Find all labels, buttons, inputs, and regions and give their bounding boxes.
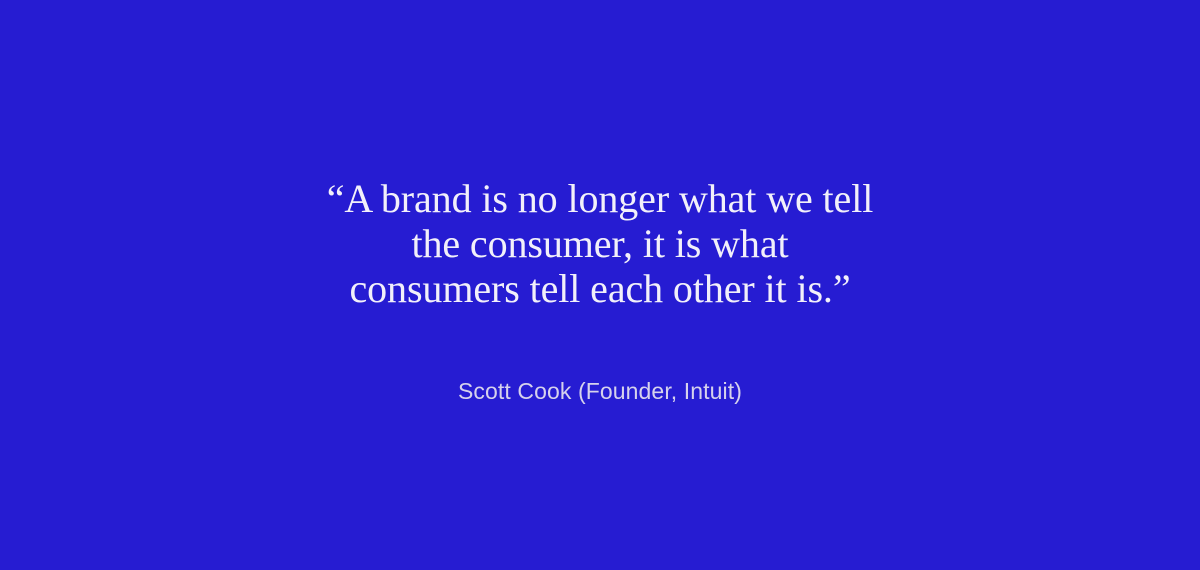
quote-line-1: “A brand is no longer what we tell [0, 176, 1200, 221]
attribution-label: Scott Cook (Founder, Intuit) [458, 377, 742, 406]
quote-line-2: the consumer, it is what [0, 221, 1200, 266]
quote-card: “A brand is no longer what we tell the c… [0, 0, 1200, 570]
quote-text-block: “A brand is no longer what we tell the c… [0, 176, 1200, 311]
quote-line-3: consumers tell each other it is.” [0, 266, 1200, 311]
quote-attribution: Scott Cook (Founder, Intuit) [0, 377, 1200, 406]
